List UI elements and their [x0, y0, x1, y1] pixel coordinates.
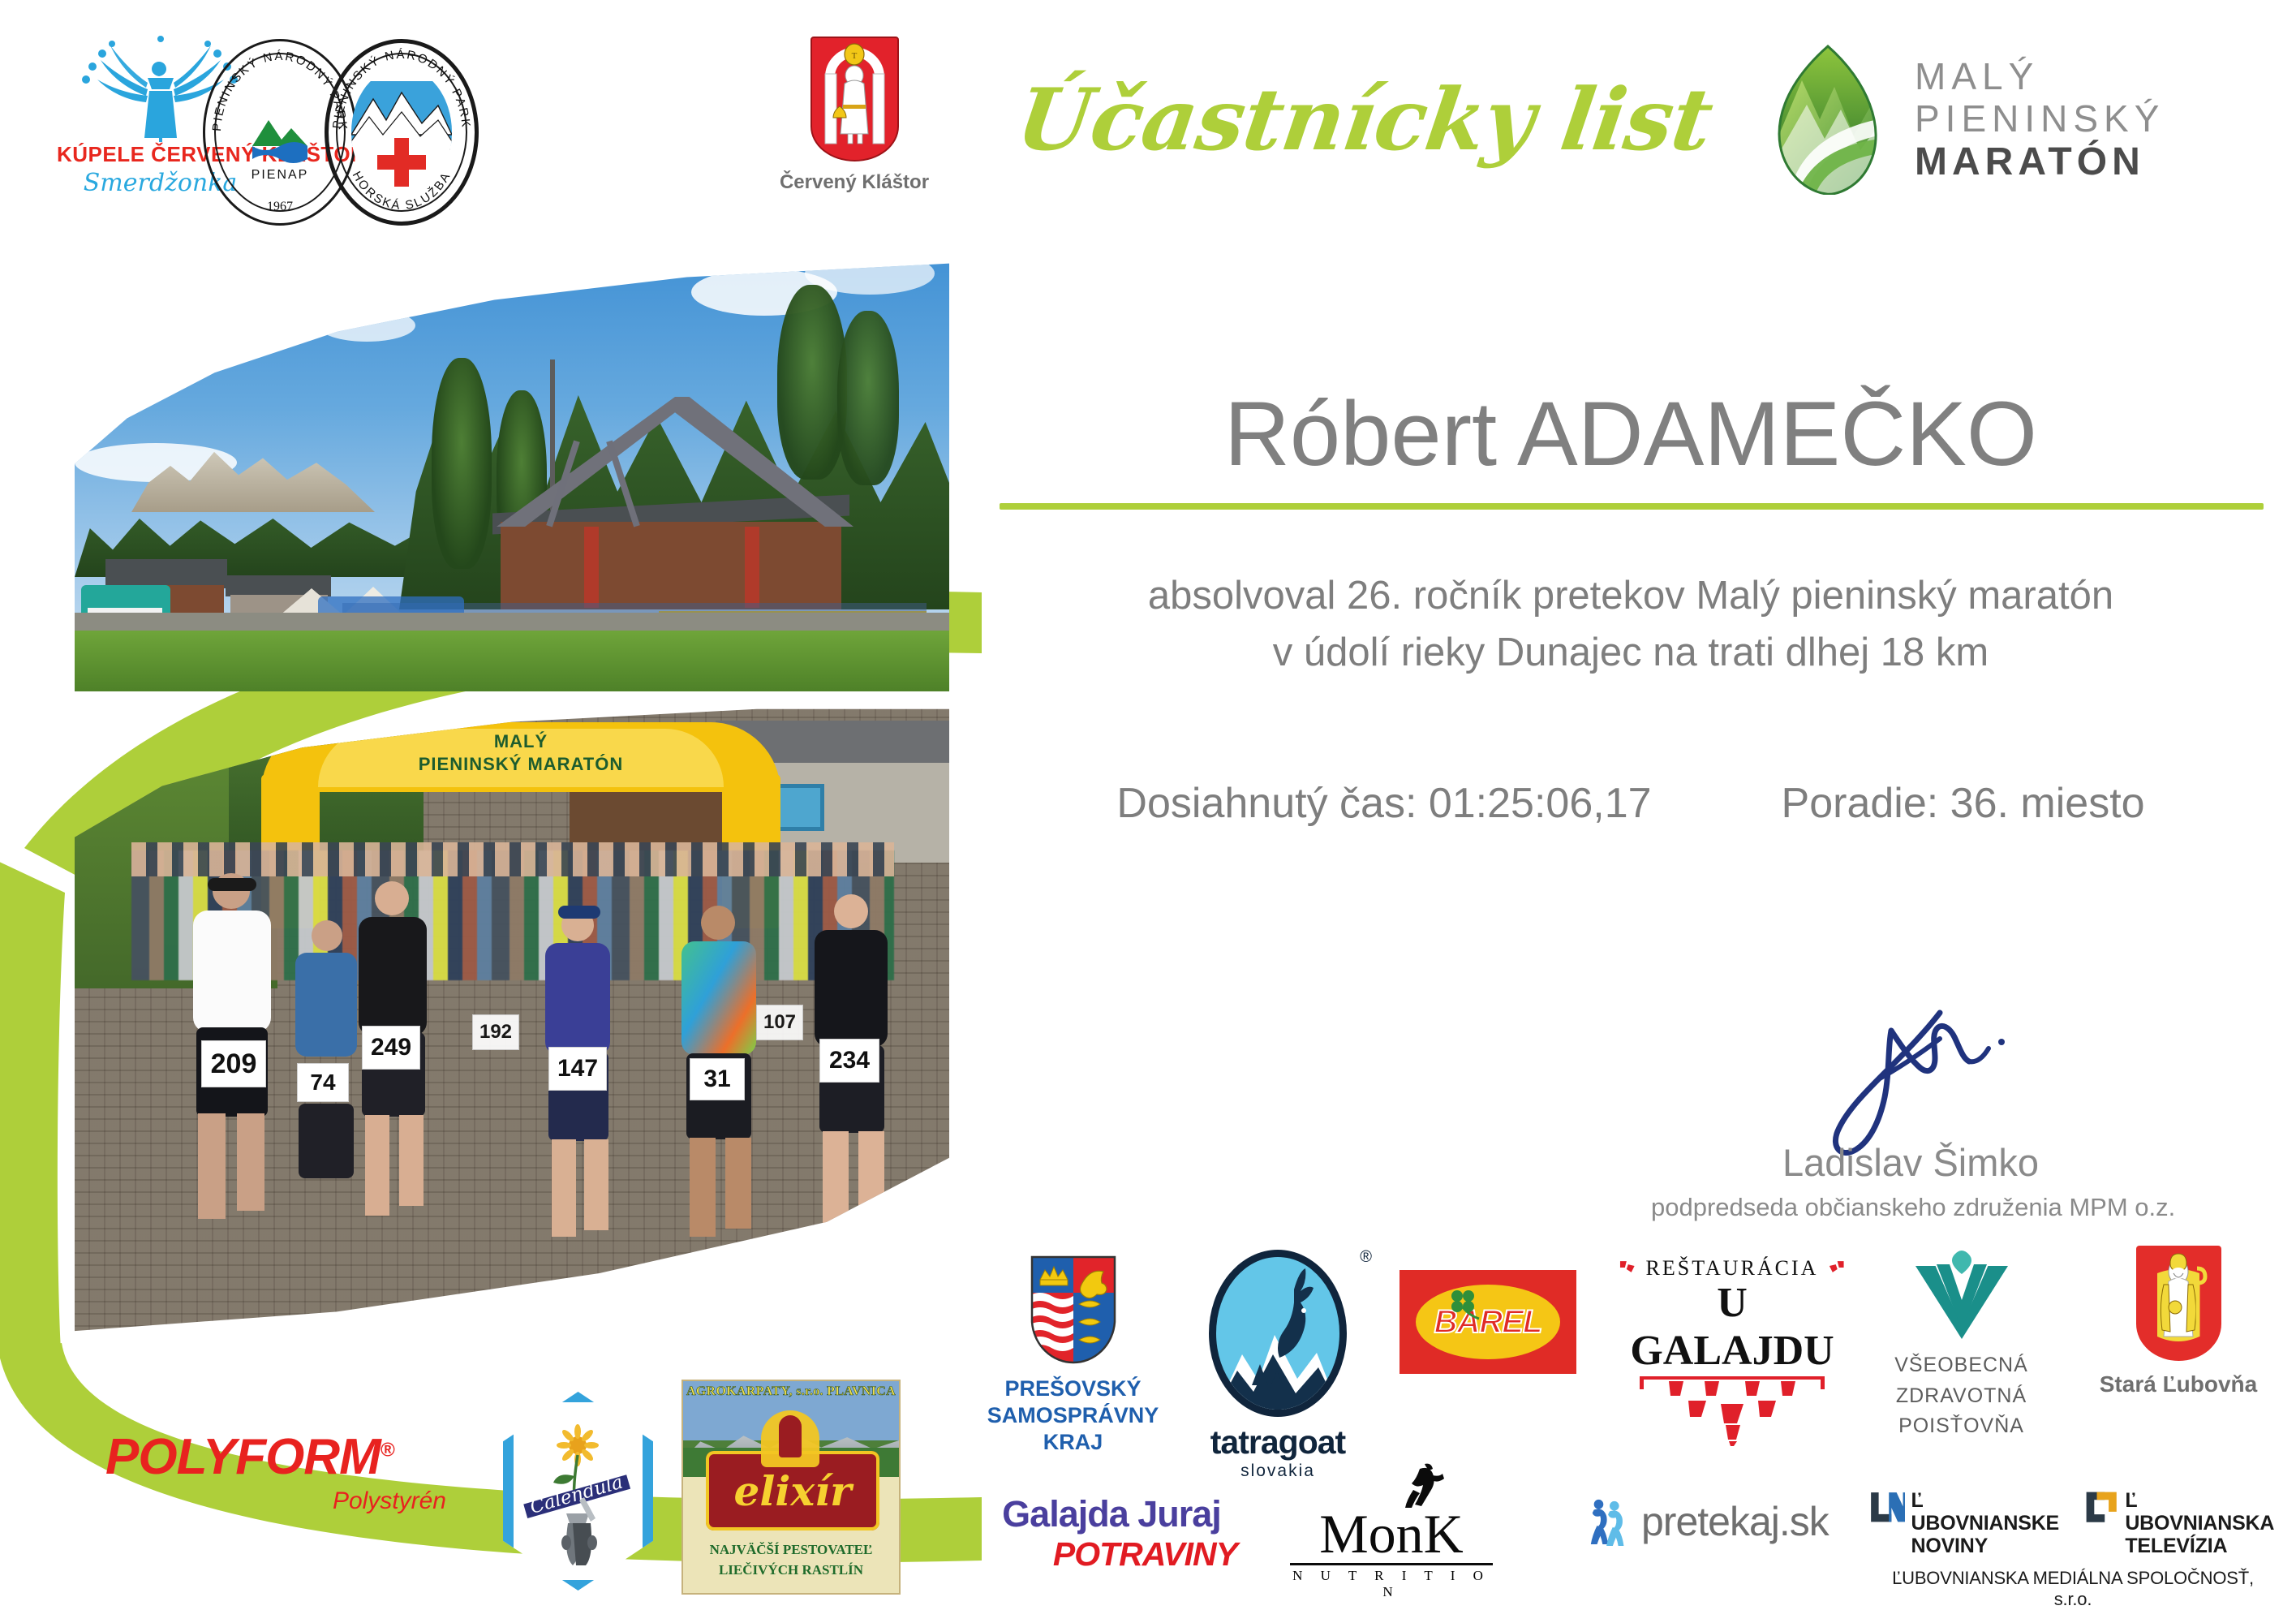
sponsor-label-line-1: Ľ UBOVNIANSKA	[2125, 1489, 2277, 1535]
sponsor-footer: ĽUBOVNIANSKA MEDIÁLNA SPOLOČNOSŤ, s.r.o.	[1882, 1568, 2264, 1610]
sponsor-label-line-3: POISŤOVŇA	[1874, 1411, 2049, 1442]
mpm-brand-logo: MALÝ PIENINSKÝ MARATÓN	[1756, 45, 2259, 195]
partner-logo-horska-sluzba: PIENINSKÝ NÁRODNÝ PARK HORSKÁ SLUŽBA	[325, 39, 479, 226]
result-time: Dosiahnutý čas: 01:25:06,17	[1116, 779, 1651, 828]
certificate-page: KÚPELE ČERVENÝ KLÁŠTOR Smerdžonka PIENIN…	[0, 0, 2296, 1623]
arch-line-1: MALÝ	[494, 731, 548, 751]
sponsor-label-line-2: SAMOSPRÁVNY	[986, 1402, 1160, 1429]
bib-number: 147	[548, 1047, 607, 1091]
stara-lubovna-coat-of-arms-icon	[2136, 1246, 2221, 1361]
amphitheatre-venue-photo	[75, 236, 949, 691]
vszp-heart-chevron-icon	[1909, 1250, 2014, 1341]
brand-line-2: PIENINSKÝ	[1915, 98, 2165, 140]
sponsor-label: MonK	[1290, 1506, 1493, 1561]
folk-ornament-left-icon	[1619, 1259, 1640, 1277]
sponsor-logo-presovsky-samospravny-kraj: PREŠOVSKÝ SAMOSPRÁVNY KRAJ	[986, 1254, 1160, 1456]
sponsor-label: Ľ UBOVNIANSKE NOVINY	[1911, 1489, 2062, 1557]
lt-monogram-icon	[2085, 1489, 2119, 1526]
signature-name: Ladislav Šimko	[1651, 1140, 2170, 1185]
lubovnianska-televizia-logo: Ľ UBOVNIANSKA TELEVÍZIA	[2085, 1489, 2277, 1557]
sponsor-logo-calendula: Calendula	[503, 1392, 653, 1591]
trademark-icon: ®	[381, 1439, 394, 1461]
sponsor-logo-pretekaj-sk: pretekaj.sk	[1586, 1497, 1846, 1546]
photo-panel: MALÝ PIENINSKÝ MARATÓN 209	[0, 203, 986, 1420]
sponsor-footer-2: LIEČIVÝCH RASTLÍN	[683, 1561, 899, 1581]
sponsor-label-line-1: REŠTAURÁCIA	[1646, 1256, 1819, 1281]
brand-line-1: MALÝ	[1915, 56, 2165, 98]
certificate-body-line-2: v údolí rieky Dunajec na trati dlhej 18 …	[998, 625, 2264, 682]
partner-label: Červený Kláštor	[777, 171, 931, 194]
sponsor-logo-barel: BAREL	[1400, 1270, 1576, 1374]
sponsor-footer-1: NAJVÄČŠÍ PESTOVATEĽ	[683, 1540, 899, 1561]
sponsor-label: Ľ UBOVNIANSKA TELEVÍZIA	[2125, 1489, 2277, 1557]
result-row: Dosiahnutý čas: 01:25:06,17 Poradie: 36.…	[998, 779, 2264, 828]
svg-text:T: T	[851, 51, 857, 61]
mpm-leaf-mountain-logo-icon	[1756, 45, 1898, 195]
certificate-body-line-1: absolvoval 26. ročník pretekov Malý pien…	[998, 568, 2264, 625]
sponsor-logo-u-galajdu: REŠTAURÁCIA U GALAJDU	[1619, 1256, 1846, 1446]
sponsor-logo-tatragoat: ® tatragoat slovakia	[1189, 1250, 1367, 1481]
sponsor-label-line-2: POTRAVINY	[986, 1535, 1237, 1573]
svg-text:Calendula: Calendula	[527, 1471, 625, 1518]
sponsor-label-line-1: Galajda Juraj	[986, 1493, 1237, 1535]
sponsor-label: VŠEOBECNÁ ZDRAVOTNÁ POISŤOVŇA	[1874, 1350, 2049, 1442]
folk-ornament-bottom-icon	[1627, 1376, 1838, 1446]
sponsor-label-line-2: U GALAJDU	[1619, 1279, 1846, 1375]
sponsor-logo-agrokarpaty: AGROKARPATY, s.r.o. PLAVNICA elixír NAJV…	[681, 1380, 901, 1595]
sponsor-logo-vszp: VŠEOBECNÁ ZDRAVOTNÁ POISŤOVŇA	[1874, 1250, 2049, 1442]
mountain-rescue-seal-icon: PIENINSKÝ NÁRODNÝ PARK HORSKÁ SLUŽBA	[325, 39, 479, 226]
sponsor-logo-stara-lubovna: Stará Ľubovňa	[2097, 1246, 2259, 1398]
lubovnianske-noviny-logo: Ľ UBOVNIANSKE NOVINY	[1868, 1489, 2063, 1557]
participant-name: Róbert ADAMEČKO	[998, 381, 2264, 486]
bib-number: 234	[819, 1039, 879, 1083]
bib-number: 107	[756, 1005, 803, 1040]
bib-number: 31	[690, 1058, 745, 1100]
sponsor-label: Stará Ľubovňa	[2097, 1371, 2259, 1398]
accent-divider	[1000, 503, 2264, 510]
sponsor-logo-polyform: POLYFORM® Polystyrén	[105, 1428, 446, 1515]
polyform-wordmark: POLYFORM	[105, 1429, 381, 1485]
signature-block: Ladislav Šimko podpredseda občianskeho z…	[1651, 1014, 2170, 1222]
sponsor-label-line-1: Ľ UBOVNIANSKE	[1911, 1489, 2062, 1535]
partner-logo-cerveny-klastor: T Červený Kláštor	[777, 37, 931, 194]
folk-ornament-right-icon	[1825, 1259, 1846, 1277]
ln-monogram-icon	[1868, 1489, 1906, 1526]
sponsor-sublabel: N U T R I T I O N	[1290, 1563, 1493, 1600]
sponsor-logo-monk-nutrition: MonK N U T R I T I O N	[1290, 1469, 1493, 1600]
page-title: Účastnícky list	[1011, 69, 1755, 170]
race-start-photo: MALÝ PIENINSKÝ MARATÓN 209	[75, 696, 949, 1337]
cerveny-klastor-coat-of-arms-icon: T	[810, 37, 899, 161]
svg-text:PIENAP: PIENAP	[252, 168, 309, 182]
certificate-body: absolvoval 26. ročník pretekov Malý pien…	[998, 568, 2264, 681]
brand-line-3: MARATÓN	[1915, 140, 2165, 184]
photo-clip: MALÝ PIENINSKÝ MARATÓN 209	[0, 203, 986, 1420]
registered-trademark-icon: ®	[1360, 1248, 1372, 1267]
sponsor-label-line-2: TELEVÍZIA	[2125, 1535, 2277, 1557]
signature-role: podpredseda občianskeho združenia MPM o.…	[1651, 1193, 2170, 1222]
sponsor-logo-galajda-juraj: Galajda Juraj POTRAVINY	[986, 1493, 1237, 1573]
tatragoat-chamois-icon	[1209, 1250, 1347, 1417]
bib-number: 192	[472, 1014, 519, 1050]
sponsor-label-line-2: NOVINY	[1911, 1535, 2062, 1557]
sponsor-label: PREŠOVSKÝ SAMOSPRÁVNY KRAJ	[986, 1375, 1160, 1456]
sponsor-label: tatragoat	[1189, 1423, 1367, 1462]
result-place: Poradie: 36. miesto	[1782, 779, 2145, 828]
bib-number: 209	[201, 1040, 266, 1087]
psk-coat-of-arms-icon	[1029, 1254, 1118, 1366]
sponsor-label: pretekaj.sk	[1641, 1498, 1829, 1545]
sponsor-label: POLYFORM®	[105, 1428, 446, 1486]
sponsor-sublabel: Polystyrén	[105, 1487, 446, 1515]
sponsor-label-line-2: ZDRAVOTNÁ	[1874, 1381, 2049, 1412]
mpm-brand-wordmark: MALÝ PIENINSKÝ MARATÓN	[1915, 56, 2165, 184]
bib-number: 74	[297, 1063, 349, 1102]
runners-icon	[1586, 1497, 1633, 1546]
sponsor-logo-lubovnianska-medialna-spolocnost: Ľ UBOVNIANSKE NOVINY Ľ UBOVNIANSKA TELEV…	[1882, 1489, 2264, 1610]
sponsor-label-line-1: VŠEOBECNÁ	[1874, 1350, 2049, 1381]
sponsor-label-line-1: PREŠOVSKÝ	[986, 1375, 1160, 1402]
arch-line-2: PIENINSKÝ MARATÓN	[419, 754, 624, 774]
sponsor-header: AGROKARPATY, s.r.o. PLAVNICA	[683, 1384, 899, 1399]
sponsor-label-line-3: KRAJ	[986, 1429, 1160, 1456]
monk-runner-icon	[1395, 1462, 1452, 1508]
